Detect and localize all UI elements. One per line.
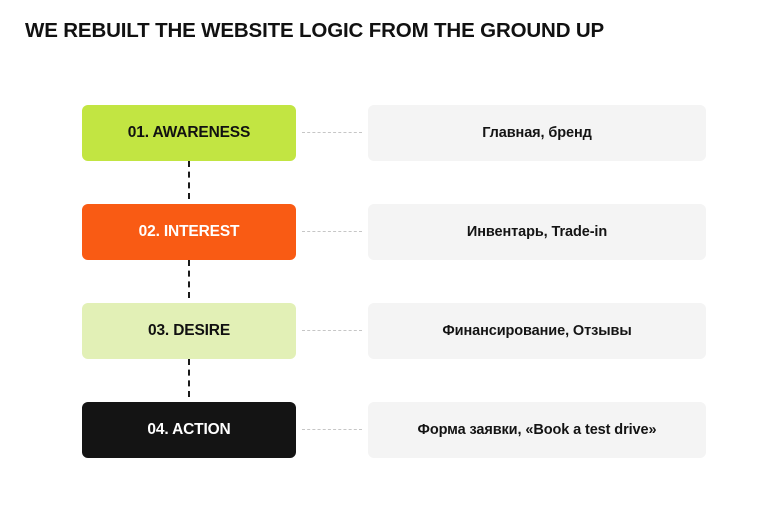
detail-box-interest[interactable]: Инвентарь, Trade-in — [368, 204, 706, 260]
connector-horizontal-3 — [302, 330, 362, 331]
connector-vertical-3-4 — [188, 359, 190, 397]
detail-box-awareness[interactable]: Главная, бренд — [368, 105, 706, 161]
funnel-row-2: 02. INTEREST Инвентарь, Trade-in — [0, 204, 777, 260]
detail-label-desire: Финансирование, Отзывы — [442, 323, 631, 339]
stage-box-desire[interactable]: 03. DESIRE — [82, 303, 296, 359]
connector-horizontal-4 — [302, 429, 362, 430]
page-title: WE REBUILT THE WEBSITE LOGIC FROM THE GR… — [25, 19, 604, 43]
stage-box-awareness[interactable]: 01. AWARENESS — [82, 105, 296, 161]
detail-box-action[interactable]: Форма заявки, «Book a test drive» — [368, 402, 706, 458]
stage-label-interest: 02. INTEREST — [139, 223, 240, 241]
connector-horizontal-1 — [302, 132, 362, 133]
stage-box-interest[interactable]: 02. INTEREST — [82, 204, 296, 260]
stage-label-action: 04. ACTION — [147, 421, 230, 439]
stage-label-awareness: 01. AWARENESS — [128, 124, 250, 142]
connector-vertical-2-3 — [188, 260, 190, 298]
funnel-row-1: 01. AWARENESS Главная, бренд — [0, 105, 777, 161]
funnel-row-4: 04. ACTION Форма заявки, «Book a test dr… — [0, 402, 777, 458]
connector-horizontal-2 — [302, 231, 362, 232]
stage-label-desire: 03. DESIRE — [148, 322, 230, 340]
stage-box-action[interactable]: 04. ACTION — [82, 402, 296, 458]
connector-vertical-1-2 — [188, 161, 190, 199]
funnel-row-3: 03. DESIRE Финансирование, Отзывы — [0, 303, 777, 359]
detail-label-awareness: Главная, бренд — [482, 125, 591, 141]
diagram-canvas: WE REBUILT THE WEBSITE LOGIC FROM THE GR… — [0, 0, 777, 523]
detail-box-desire[interactable]: Финансирование, Отзывы — [368, 303, 706, 359]
detail-label-interest: Инвентарь, Trade-in — [467, 224, 607, 240]
detail-label-action: Форма заявки, «Book a test drive» — [418, 422, 657, 438]
